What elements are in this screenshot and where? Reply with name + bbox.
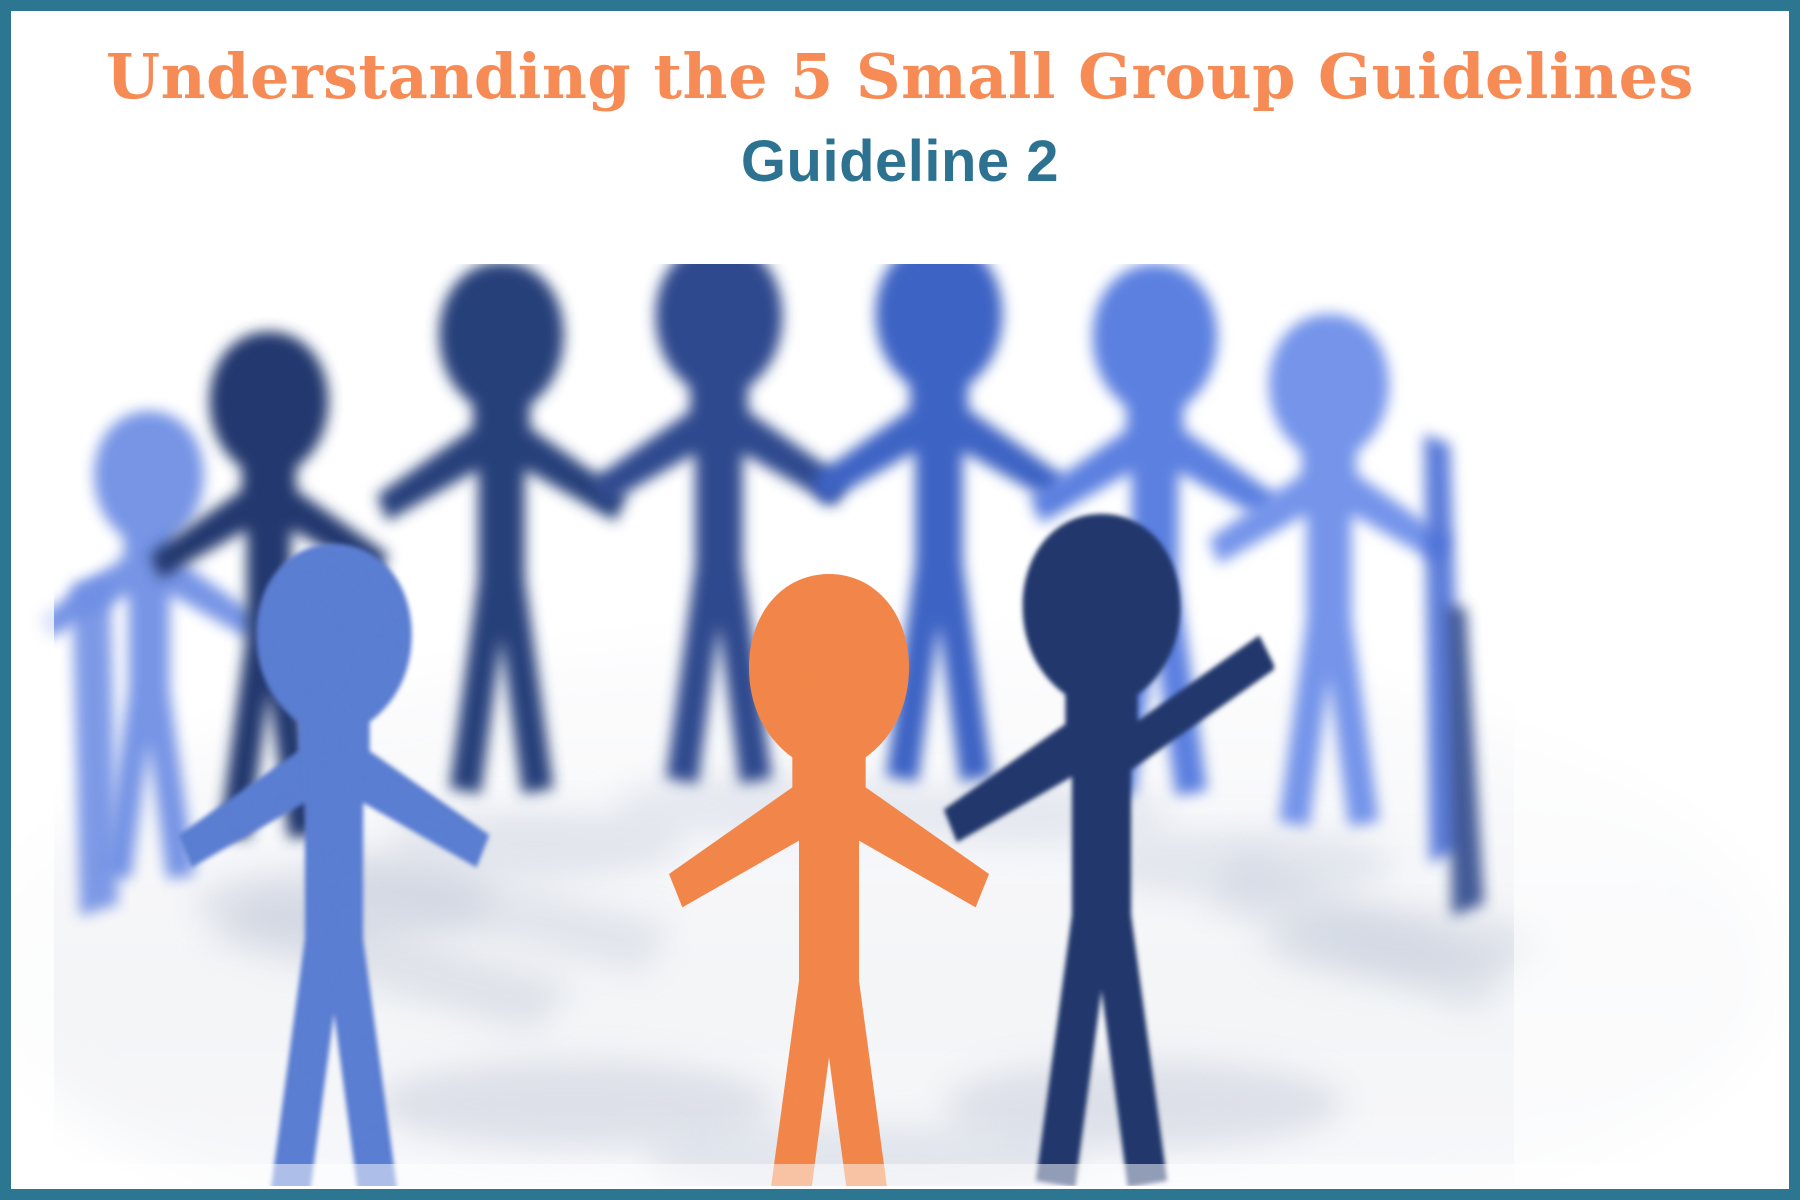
page-frame: Understanding the 5 Small Group Guidelin… [0,0,1800,1200]
photo-vignette-right [1514,204,1789,1189]
photo-vignette-left [14,204,54,1189]
group-circle-photo [14,204,1789,1189]
page-title: Understanding the 5 Small Group Guidelin… [14,40,1786,113]
page-inner: Understanding the 5 Small Group Guidelin… [11,11,1789,1189]
page-subtitle: Guideline 2 [14,128,1786,195]
figure-edge-left-sliver [72,576,118,916]
photo-vignette-bottom [14,1164,1789,1189]
